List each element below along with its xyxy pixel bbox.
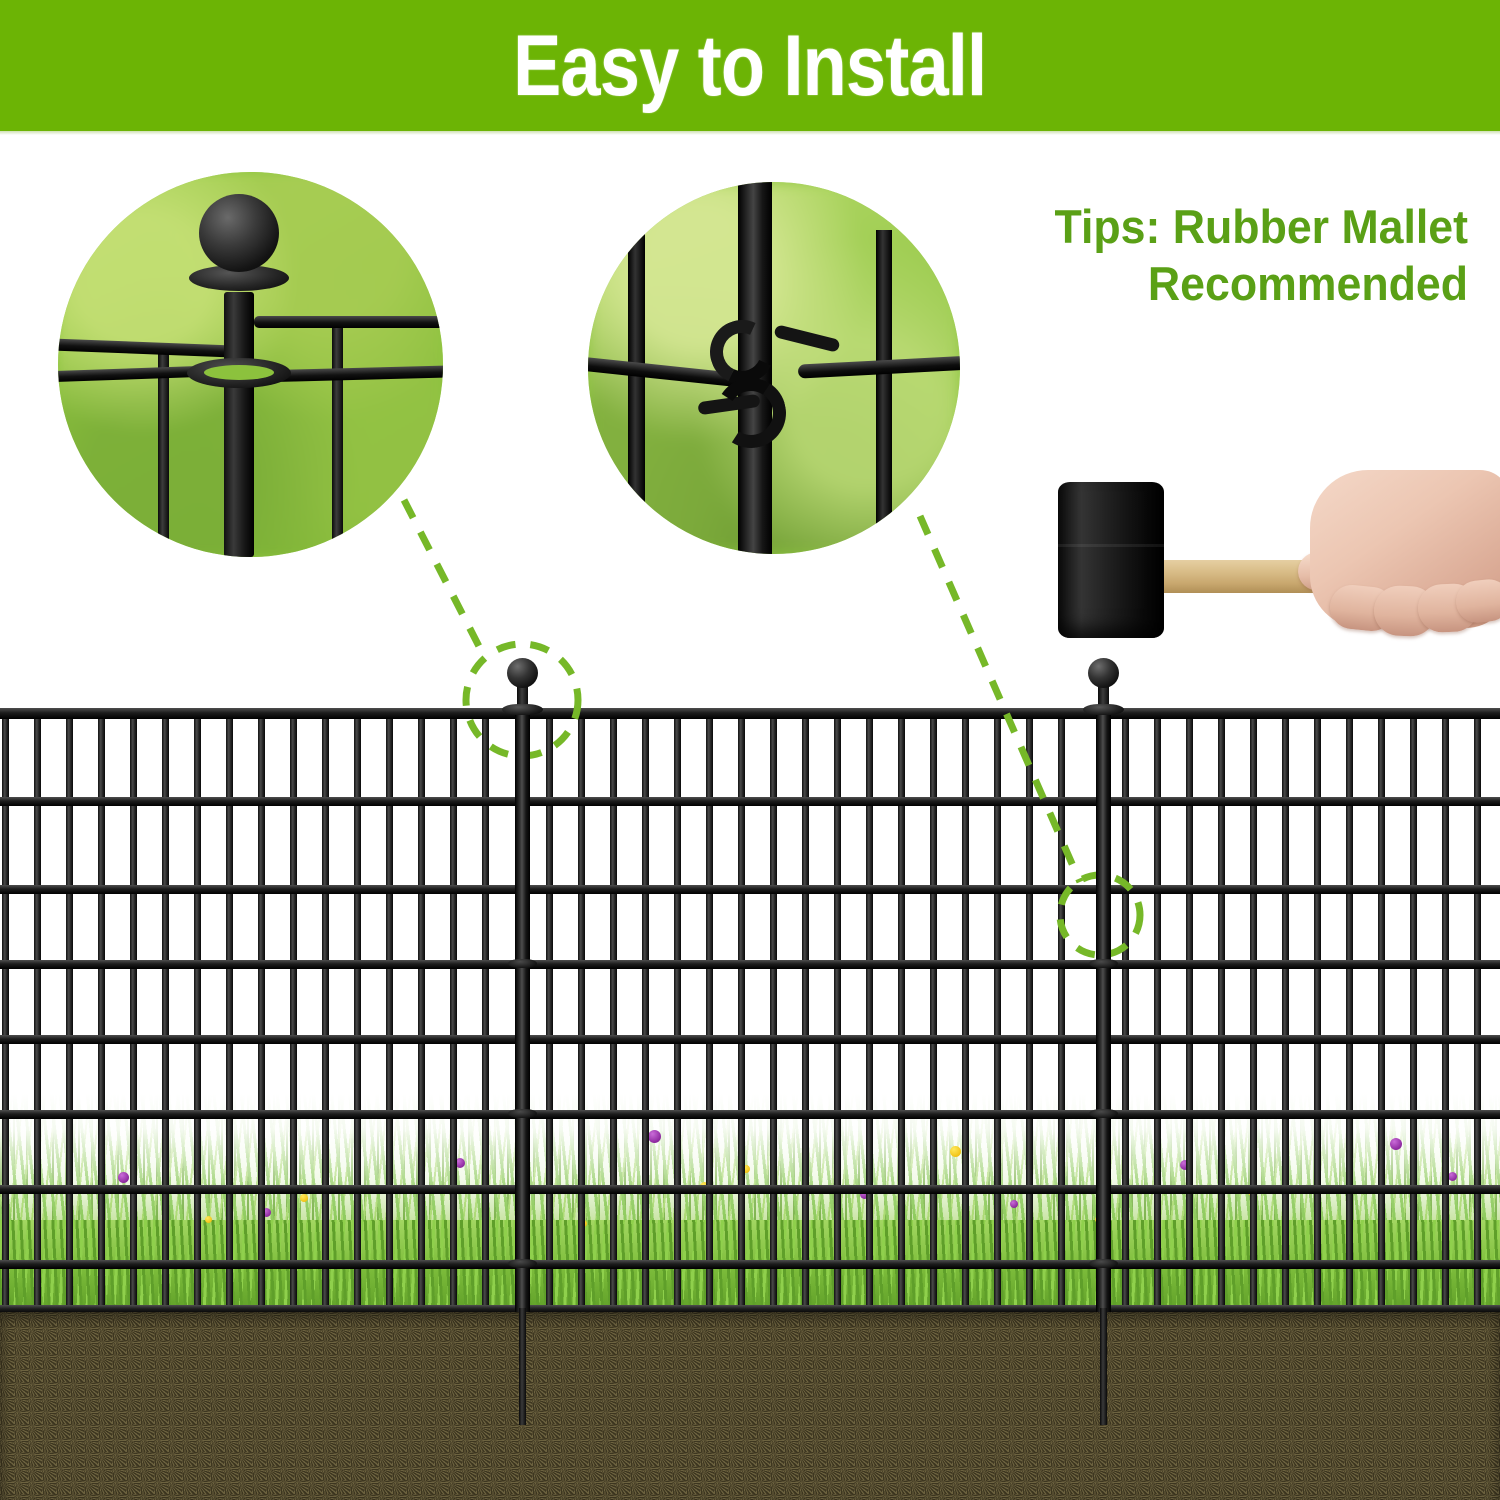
- post-top-collar: [502, 704, 543, 715]
- fence-rail: [0, 1185, 1500, 1194]
- post-ball-finial: [507, 658, 538, 688]
- post-ground-stake: [519, 1308, 526, 1425]
- fence-rail: [0, 708, 1500, 719]
- flower: [1010, 1200, 1018, 1208]
- fence-scene: [0, 660, 1500, 1500]
- callout-1-rail-right: [254, 316, 443, 328]
- fence-rail: [0, 797, 1500, 806]
- post-connector-node: [508, 1109, 537, 1118]
- fence-rail: [0, 885, 1500, 894]
- callout-1-collar-opening: [204, 365, 274, 380]
- post-ball-finial: [1088, 658, 1119, 688]
- soil-ground: [0, 1312, 1500, 1500]
- callout-circle-post-cap: [58, 172, 443, 557]
- fence-rail: [0, 1260, 1500, 1269]
- callout-2-vertical-bar-left: [628, 230, 645, 542]
- page-title: Easy to Install: [513, 23, 986, 109]
- tips-text: Tips: Rubber Mallet Recommended: [974, 198, 1468, 313]
- callout-2-vertical-bar-right: [876, 230, 892, 540]
- post-connector-node: [508, 959, 537, 968]
- fence-post: [1096, 710, 1111, 1312]
- post-connector-node: [1089, 1259, 1118, 1268]
- post-connector-node: [1089, 959, 1118, 968]
- flower: [648, 1130, 661, 1143]
- callout-circle-wire-hook: [588, 182, 960, 554]
- callout-1-vertical-bar-right: [332, 320, 343, 557]
- flower: [1448, 1172, 1457, 1181]
- flower: [300, 1194, 308, 1202]
- fence-rail: [0, 1110, 1500, 1119]
- flower: [205, 1216, 212, 1223]
- callout-1-post: [224, 292, 254, 557]
- header-banner: Easy to Install: [0, 0, 1500, 131]
- post-connector-node: [508, 1259, 537, 1268]
- flower: [1390, 1138, 1402, 1150]
- flower: [118, 1172, 129, 1183]
- post-connector-node: [1089, 1109, 1118, 1118]
- tips-line-2: Recommended: [974, 255, 1468, 312]
- post-ground-stake: [1100, 1308, 1107, 1425]
- fence-rail: [0, 960, 1500, 969]
- mallet-head: [1058, 482, 1164, 638]
- post-top-collar: [1083, 704, 1124, 715]
- banner-bottom-edge: [0, 131, 1500, 135]
- tips-line-1: Tips: Rubber Mallet: [1055, 200, 1468, 253]
- flower: [950, 1146, 961, 1157]
- callout-1-ball-finial: [199, 194, 279, 272]
- rubber-mallet-with-hand: [1040, 468, 1500, 668]
- callout-1-vertical-bar-left: [158, 348, 169, 557]
- fence-rail: [0, 1035, 1500, 1044]
- fence-post: [515, 710, 530, 1312]
